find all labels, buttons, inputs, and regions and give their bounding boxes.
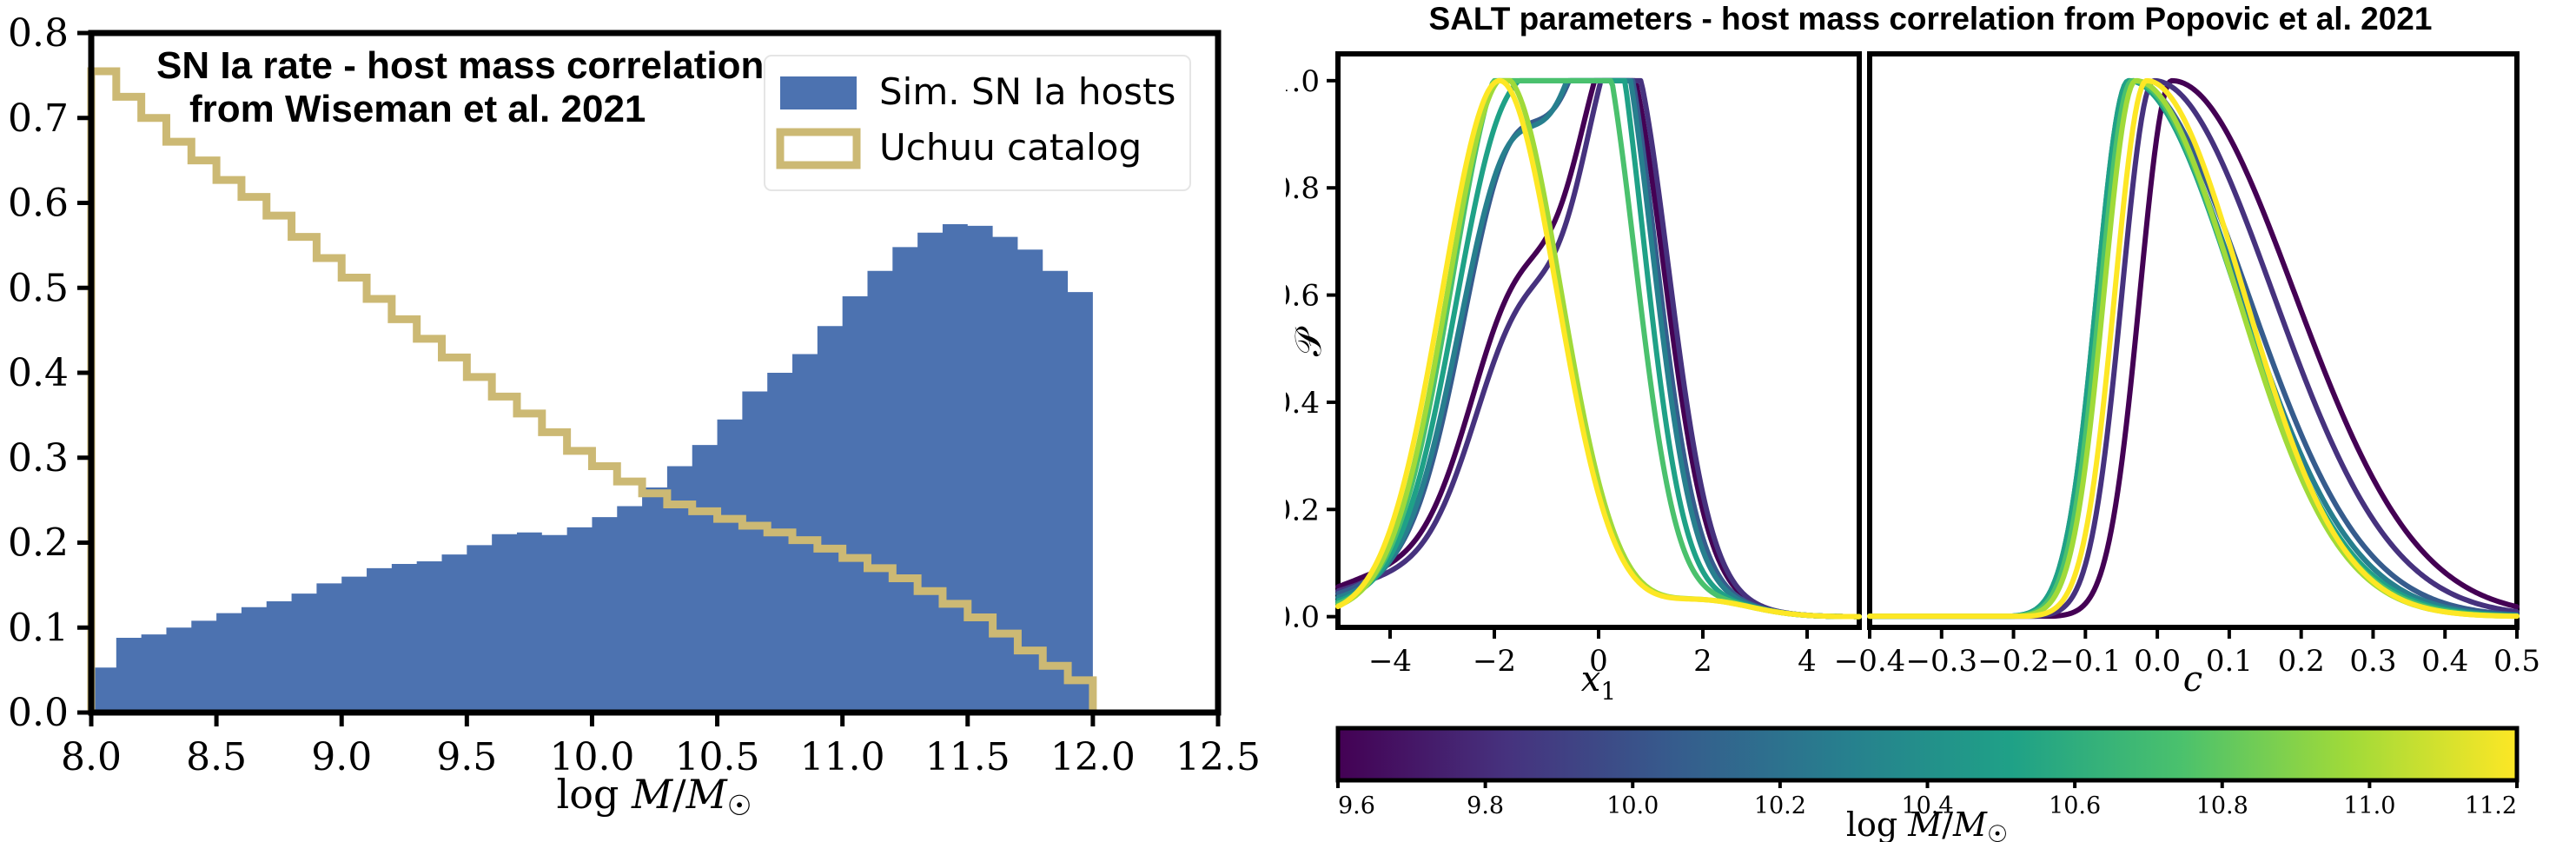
y-tick-label: 0.4 (8, 351, 69, 395)
x-tick-label: 11.0 (800, 735, 885, 779)
y-tick-label: 0.8 (1286, 171, 1320, 206)
y-tick-label: 0.7 (8, 96, 69, 141)
y-tick-label: 0.2 (1286, 493, 1320, 527)
y-tick-label: 0.4 (1286, 386, 1320, 421)
legend-label-sim-sn-ia-hosts: Sim. SN Ia hosts (879, 70, 1175, 113)
x-tick-label: 9.0 (311, 735, 372, 779)
colorbar-tick-label: 9.6 (1338, 792, 1375, 819)
left-y-ticks-group: 0.00.10.20.30.40.50.60.70.8 (8, 11, 91, 735)
x-tick-label: 0.0 (2134, 644, 2181, 679)
right-salt-svg: SALT parameters - host mass correlation … (1286, 0, 2576, 842)
annotation-line-1: SN Ia rate - host mass correlation (156, 44, 764, 87)
y-tick-label: 0.1 (8, 606, 69, 650)
left-x-axis-label: log M/M☉ (557, 771, 752, 822)
colorbar-gradient (1338, 728, 2517, 780)
x-tick-label: −0.4 (1834, 644, 1906, 679)
right-y-axis-label: 𝒫 (1287, 326, 1329, 356)
x1-subplot: −4−2024 0.00.20.40.60.81.0 x1 𝒫 (1286, 54, 1859, 706)
colorbar-tick-label: 11.2 (2465, 792, 2517, 819)
annotation-line-2: from Wiseman et al. 2021 (189, 88, 646, 130)
left-histogram-panel: 8.08.59.09.510.010.511.011.512.012.5 0.0… (0, 0, 1286, 842)
x-tick-label: 4 (1798, 644, 1817, 679)
colorbar-tick-label: 11.0 (2343, 792, 2395, 819)
x-tick-label: 0.4 (2421, 644, 2468, 679)
left-histogram-svg: 8.08.59.09.510.010.511.011.512.012.5 0.0… (0, 0, 1286, 842)
c-axis-label: c (2183, 660, 2202, 699)
x-tick-label: 0.3 (2349, 644, 2396, 679)
y-tick-label: 0.6 (8, 182, 69, 226)
x-tick-label: −0.2 (1977, 644, 2050, 679)
colorbar-tick-label: 10.0 (1606, 792, 1659, 819)
left-x-ticks-group: 8.08.59.09.510.010.511.011.512.012.5 (61, 713, 1261, 779)
x-tick-label: 8.5 (186, 735, 247, 779)
x-tick-label: 0.1 (2206, 644, 2253, 679)
right-panel-title: SALT parameters - host mass correlation … (1429, 1, 2433, 36)
legend-swatch-sim-sn-ia-hosts (780, 76, 857, 109)
x-tick-label: −0.3 (1905, 644, 1977, 679)
y-tick-label: 0.0 (8, 691, 69, 735)
legend-swatch-uchuu-catalog (780, 132, 857, 165)
x-tick-label: 12.5 (1175, 735, 1261, 779)
x-tick-label: 0.5 (2493, 644, 2540, 679)
legend-label-uchuu-catalog: Uchuu catalog (879, 126, 1142, 169)
y-tick-label: 0.2 (8, 521, 69, 566)
colorbar: 9.69.810.010.210.410.610.811.011.2 log M… (1338, 728, 2517, 842)
left-legend[interactable]: Sim. SN Ia hosts Uchuu catalog (765, 56, 1190, 190)
x-tick-label: 8.0 (61, 735, 122, 779)
x1-axis-label: x1 (1581, 660, 1616, 706)
y-tick-label: 0.8 (8, 11, 69, 56)
right-salt-panel: SALT parameters - host mass correlation … (1286, 0, 2576, 842)
colorbar-tick-label: 10.8 (2196, 792, 2248, 819)
y-tick-label: 0.6 (1286, 279, 1320, 314)
figure-root: 8.08.59.09.510.010.511.011.512.012.5 0.0… (0, 0, 2576, 842)
x-tick-label: −0.1 (2050, 644, 2122, 679)
x-tick-label: 2 (1693, 644, 1712, 679)
x-tick-label: 0.2 (2278, 644, 2325, 679)
x-tick-label: 12.0 (1050, 735, 1136, 779)
y-tick-label: 1.0 (1286, 64, 1320, 99)
colorbar-tick-label: 10.6 (2049, 792, 2101, 819)
colorbar-tick-label: 9.8 (1467, 792, 1504, 819)
x-tick-label: −4 (1368, 644, 1412, 679)
c-subplot: −0.4−0.3−0.2−0.10.00.10.20.30.40.5 c (1834, 54, 2540, 699)
y-tick-label: 0.5 (8, 266, 69, 310)
x-tick-label: 11.5 (925, 735, 1010, 779)
x-tick-label: 9.5 (436, 735, 497, 779)
colorbar-label: log M/M☉ (1846, 806, 2008, 842)
y-tick-label: 0.3 (8, 436, 69, 481)
colorbar-tick-label: 10.2 (1754, 792, 1806, 819)
y-tick-label: 0.0 (1286, 600, 1320, 635)
x-tick-label: −2 (1473, 644, 1516, 679)
